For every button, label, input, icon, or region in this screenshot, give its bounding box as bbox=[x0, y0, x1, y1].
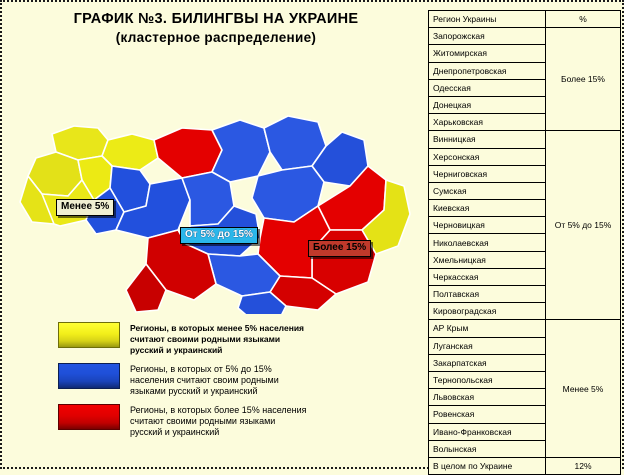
cell-region-name: Киевская bbox=[429, 200, 546, 217]
slide-root: ГРАФИК №3. БИЛИНГВЫ НА УКРАИНЕ (кластерн… bbox=[0, 0, 624, 469]
cell-region-name: Кировоградская bbox=[429, 303, 546, 320]
legend-line: Регионы, в которых от 5% до 15% bbox=[130, 364, 279, 375]
cell-region-name: Днепропетровская bbox=[429, 62, 546, 79]
cell-region-name: Черкасская bbox=[429, 268, 546, 285]
ukraine-choropleth-map[interactable]: Менее 5% От 5% до 15% Более 15% bbox=[12, 54, 412, 314]
cell-region-name: Запорожская bbox=[429, 28, 546, 45]
title-line-1: ГРАФИК №3. БИЛИНГВЫ НА УКРАИНЕ bbox=[20, 10, 412, 29]
cell-region-name: Харьковская bbox=[429, 114, 546, 131]
page-title: ГРАФИК №3. БИЛИНГВЫ НА УКРАИНЕ (кластерн… bbox=[20, 10, 412, 47]
cell-region-name: Закарпатская bbox=[429, 354, 546, 371]
header-region: Регион Украины bbox=[429, 11, 546, 28]
legend-line: населения считают своим родными bbox=[130, 375, 279, 386]
cell-region-name: Ровенская bbox=[429, 406, 546, 423]
callout-5-to-15[interactable]: От 5% до 15% bbox=[180, 227, 258, 244]
legend-text-less-than-5: Регионы, в которых менее 5% населения сч… bbox=[130, 322, 304, 356]
cell-region-name: Тернопольская bbox=[429, 371, 546, 388]
cell-region-name: Полтавская bbox=[429, 286, 546, 303]
region-percent-table: Регион Украины%ЗапорожскаяБолее 15%Житом… bbox=[428, 10, 621, 475]
cell-region-name: Винницкая bbox=[429, 131, 546, 148]
cell-region-name: Одесская bbox=[429, 79, 546, 96]
header-percent: % bbox=[546, 11, 621, 28]
cell-total-value: 12% bbox=[546, 457, 621, 474]
legend-line: считают своими родными языками bbox=[130, 334, 304, 345]
cell-region-name: Волынская bbox=[429, 440, 546, 457]
legend-line: Регионы, в которых более 15% населения bbox=[130, 405, 307, 416]
legend-swatch-red bbox=[58, 404, 120, 430]
table-row[interactable]: АР КрымМенее 5% bbox=[429, 320, 621, 337]
cell-region-name: Житомирская bbox=[429, 45, 546, 62]
legend-swatch-blue bbox=[58, 363, 120, 389]
cell-region-name: Черновицкая bbox=[429, 217, 546, 234]
legend-line: русский и украинский bbox=[130, 427, 307, 438]
map-legend: Регионы, в которых менее 5% населения сч… bbox=[58, 322, 388, 445]
cell-region-name: Луганская bbox=[429, 337, 546, 354]
region-zhytomyrska bbox=[154, 128, 222, 178]
legend-line: Регионы, в которых менее 5% населения bbox=[130, 323, 304, 334]
table-total-row: В целом по Украине12% bbox=[429, 457, 621, 474]
legend-line: считают своими родными языками bbox=[130, 416, 307, 427]
cell-region-name: Сумская bbox=[429, 182, 546, 199]
legend-line: русский и украинский bbox=[130, 345, 304, 356]
legend-item-more-than-15: Регионы, в которых более 15% населения с… bbox=[58, 404, 388, 438]
cell-region-name: Черниговская bbox=[429, 165, 546, 182]
legend-text-5-to-15: Регионы, в которых от 5% до 15% населени… bbox=[130, 363, 279, 397]
region-table-wrapper: Регион Украины%ЗапорожскаяБолее 15%Житом… bbox=[428, 10, 616, 475]
cell-region-name: Ивано-Франковская bbox=[429, 423, 546, 440]
table-row[interactable]: ЗапорожскаяБолее 15% bbox=[429, 28, 621, 45]
legend-swatch-yellow bbox=[58, 322, 120, 348]
cell-total-label: В целом по Украине bbox=[429, 457, 546, 474]
legend-item-5-to-15: Регионы, в которых от 5% до 15% населени… bbox=[58, 363, 388, 397]
title-line-2: (кластерное распределение) bbox=[20, 29, 412, 47]
cell-region-name: Николаевская bbox=[429, 234, 546, 251]
table-row[interactable]: ВинницкаяОт 5% до 15% bbox=[429, 131, 621, 148]
cell-region-name: Львовская bbox=[429, 389, 546, 406]
cell-region-name: АР Крым bbox=[429, 320, 546, 337]
table-header-row: Регион Украины% bbox=[429, 11, 621, 28]
region-kyivska bbox=[212, 120, 270, 182]
cell-region-name: Херсонская bbox=[429, 148, 546, 165]
cell-percent-group: Более 15% bbox=[546, 28, 621, 131]
cell-region-name: Хмельницкая bbox=[429, 251, 546, 268]
cell-region-name: Донецкая bbox=[429, 96, 546, 113]
legend-text-more-than-15: Регионы, в которых более 15% населения с… bbox=[130, 404, 307, 438]
legend-item-less-than-5: Регионы, в которых менее 5% населения сч… bbox=[58, 322, 388, 356]
cell-percent-group: От 5% до 15% bbox=[546, 131, 621, 320]
legend-line: языками русский и украинский bbox=[130, 386, 279, 397]
cell-percent-group: Менее 5% bbox=[546, 320, 621, 458]
map-svg bbox=[12, 54, 412, 314]
callout-more-than-15[interactable]: Более 15% bbox=[308, 240, 371, 257]
callout-less-than-5[interactable]: Менее 5% bbox=[56, 199, 114, 216]
